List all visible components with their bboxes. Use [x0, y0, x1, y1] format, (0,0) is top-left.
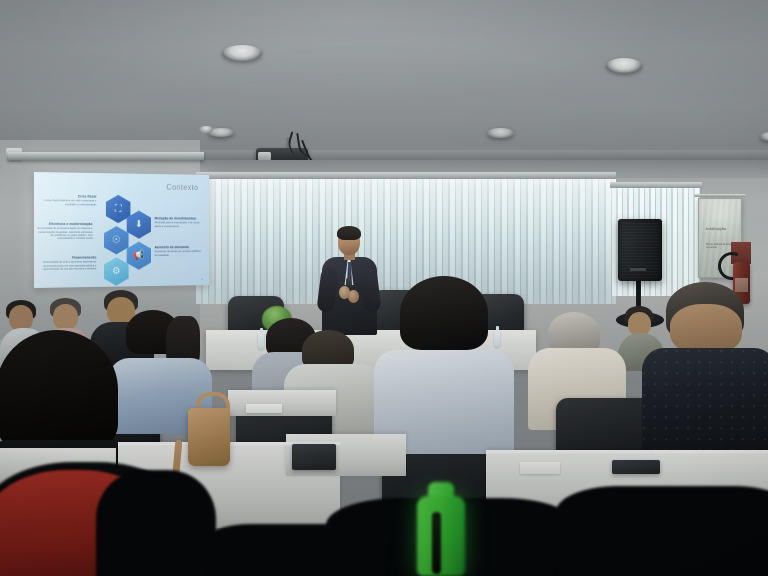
smoke-detector-icon — [199, 126, 213, 133]
slide-block-heading: Aumento da demanda — [155, 245, 202, 249]
green-bottle-straw — [432, 512, 441, 574]
slide-block-eficiencia: Eficiência e modernização Necessidade de… — [36, 222, 93, 241]
poster-rod — [694, 194, 746, 197]
foreground-silhouette-center-2 — [208, 524, 388, 576]
presenter-hair — [337, 226, 361, 240]
presenter-hand-right — [348, 290, 359, 303]
person-dark-patterned-shirt — [648, 282, 768, 448]
slide-block-aumento-demanda: Aumento da demanda Sociedade demanda por… — [155, 245, 202, 257]
ceiling-light-2 — [606, 58, 642, 73]
slide-block-heading: Redução de investimentos — [155, 216, 202, 220]
pa-speaker — [618, 219, 662, 281]
conference-room-photo: Contexto Crise fiscal A crise fiscal bra… — [0, 0, 768, 576]
ceiling-light-4 — [487, 128, 514, 138]
printed-handout-1 — [520, 462, 560, 474]
slide-block-body: Necessidade de processos ágeis na máquin… — [36, 227, 93, 240]
screen-rail — [8, 152, 204, 160]
blinds-rail-right — [610, 182, 702, 188]
foreground-silhouette-right — [556, 486, 768, 576]
person-blue-shirt-center — [378, 276, 510, 446]
laptop-device — [292, 444, 336, 470]
ceiling-light-1 — [222, 45, 262, 61]
slide-block-crise-fiscal: Crise fiscal A crise fiscal brasileira t… — [40, 194, 96, 206]
slide-block-financiamento: Financiamento Necessidade de criar e apr… — [40, 256, 96, 272]
handshake-icon: ☉ — [104, 226, 129, 254]
printed-handout-2 — [246, 404, 282, 413]
slide-block-body: Restrição para a manutenção e de novos a… — [155, 222, 202, 229]
slide-block-body: Necessidade de criar e aprimorar alterna… — [40, 261, 96, 272]
slide-page-number: 4 — [201, 278, 203, 282]
poster-logo-text: Instituição — [706, 226, 726, 231]
megaphone-icon: 📢 — [127, 242, 151, 270]
slide-block-heading: Financiamento — [40, 256, 96, 261]
foreground-silhouette-left-2 — [96, 470, 216, 576]
pa-speaker-badge — [630, 268, 646, 271]
green-bottle — [417, 496, 465, 576]
tablet-device — [612, 460, 660, 474]
gears-icon: ⚙ — [104, 257, 129, 286]
slide-title: Contexto — [166, 183, 198, 192]
slide-block-heading: Crise fiscal — [40, 194, 96, 199]
blinds-rail-center — [196, 172, 616, 179]
slide-block-body: Sociedade demanda por serviços públicos … — [155, 250, 202, 257]
projection-screen: Contexto Crise fiscal A crise fiscal bra… — [34, 172, 209, 288]
audience-table-back — [228, 390, 336, 416]
slide-block-reducao-investimentos: Redução de investimentos Restrição para … — [155, 216, 202, 228]
handbag — [188, 408, 230, 466]
slide-block-heading: Eficiência e modernização — [36, 222, 93, 226]
slide-block-body: A crise fiscal brasileira tem sido suste… — [40, 199, 96, 206]
table-edge-2 — [486, 450, 768, 453]
